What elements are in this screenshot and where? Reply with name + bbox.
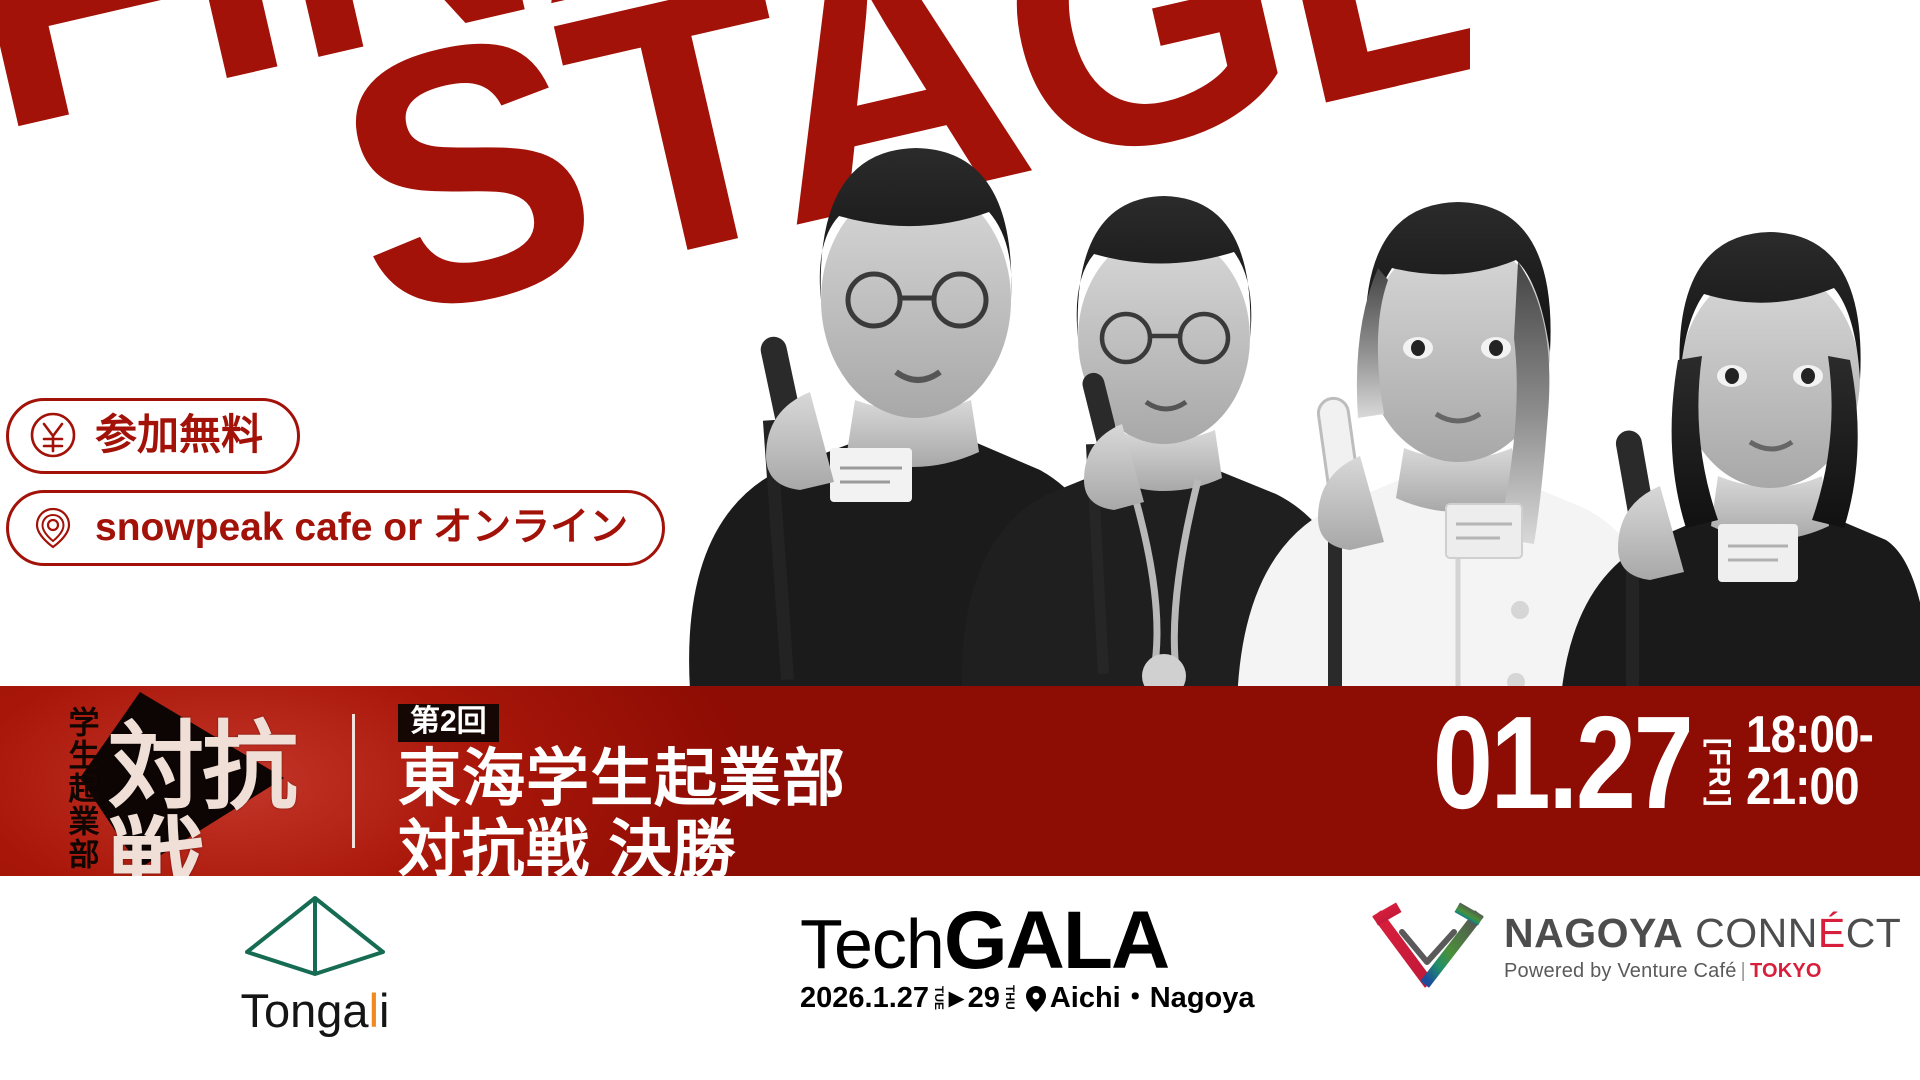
nagoya-name-accent: É xyxy=(1818,910,1846,956)
event-time-line1: 18:00- xyxy=(1746,706,1873,764)
techgala-wordmark: TechGALA xyxy=(800,900,1255,982)
nagoya-name-light-b: CT xyxy=(1846,910,1902,956)
techgala-name-light: Tech xyxy=(800,905,944,983)
banner-title-block: 第2回 東海学生起業部 対抗戦 決勝 xyxy=(398,704,846,884)
nagoya-connect-wordmark: NAGOYA CONNÉCT Powered by Venture Café|T… xyxy=(1504,913,1901,983)
emblem-vertical-text: 学生起業部 xyxy=(64,706,97,871)
event-title-line1: 東海学生起業部 xyxy=(398,746,846,813)
yen-icon xyxy=(29,411,77,459)
edition-badge: 第2回 xyxy=(398,704,499,742)
event-date: 01.27 xyxy=(1433,702,1692,823)
techgala-place: Aichi・Nagoya xyxy=(1050,984,1255,1013)
event-time-line2: 21:00 xyxy=(1746,758,1859,816)
nagoya-connect-name: NAGOYA CONNÉCT xyxy=(1504,913,1901,954)
nagoya-name-light-a: CONN xyxy=(1695,910,1818,956)
tongali-name-accent: l xyxy=(369,984,379,1037)
logo-techgala: TechGALA 2026.1.27 TUE ▸ 29 THU Aichi・Na… xyxy=(800,900,1255,1013)
event-day-of-week: [FRI] xyxy=(1704,738,1734,808)
techgala-location-pin-icon xyxy=(1026,986,1046,1012)
nagoya-connect-powered-by: Powered by Venture Café|TOKYO xyxy=(1504,960,1901,983)
sponsor-footer: Tongali TechGALA 2026.1.27 TUE ▸ 29 THU … xyxy=(0,876,1920,1080)
taikousen-emblem: 学生起業部 対抗戦 xyxy=(22,682,322,878)
tongali-pyramid-icon xyxy=(205,892,425,980)
nagoya-separator: | xyxy=(1741,960,1746,982)
nagoya-connect-chevron-icon xyxy=(1368,902,1488,994)
tongali-name-tail: i xyxy=(379,984,389,1037)
event-title-line2: 対抗戦 決勝 xyxy=(398,817,846,884)
pill-venue-label: snowpeak cafe or オンライン xyxy=(95,508,628,547)
tongali-wordmark: Tongali xyxy=(205,987,425,1034)
tongali-name-main: Tonga xyxy=(241,984,369,1037)
nagoya-city: TOKYO xyxy=(1750,960,1822,982)
banner-date-block: 01.27 [FRI] 18:00- 21:00 xyxy=(1376,702,1890,823)
techgala-arrow-icon: ▸ xyxy=(949,984,964,1013)
banner-divider xyxy=(352,714,355,848)
event-time: 18:00- 21:00 xyxy=(1746,709,1873,813)
nagoya-powered-by-text: Powered by Venture Café xyxy=(1504,960,1737,982)
logo-nagoya-connect: NAGOYA CONNÉCT Powered by Venture Café|T… xyxy=(1368,902,1901,994)
event-banner: 学生起業部 対抗戦 第2回 東海学生起業部 対抗戦 決勝 01.27 [FRI]… xyxy=(0,686,1920,876)
techgala-date-end: 29 xyxy=(968,984,1000,1013)
pill-venue: snowpeak cafe or オンライン xyxy=(6,490,665,566)
pill-admission-free-label: 参加無料 xyxy=(95,414,263,456)
techgala-name-bold: GALA xyxy=(944,895,1168,986)
pill-admission-free: 参加無料 xyxy=(6,398,300,474)
location-pin-icon xyxy=(29,503,77,551)
photo-top-mask xyxy=(1470,0,1920,140)
nagoya-name-bold: NAGOYA xyxy=(1504,910,1683,956)
info-pill-group: 参加無料 snowpeak cafe or オンライン xyxy=(6,398,665,582)
techgala-sup-start: TUE xyxy=(933,986,945,1010)
techgala-date-start: 2026.1.27 xyxy=(800,984,929,1013)
logo-tongali: Tongali xyxy=(205,892,425,1034)
techgala-sup-end: THU xyxy=(1004,985,1016,1010)
techgala-subline: 2026.1.27 TUE ▸ 29 THU Aichi・Nagoya xyxy=(800,984,1255,1013)
